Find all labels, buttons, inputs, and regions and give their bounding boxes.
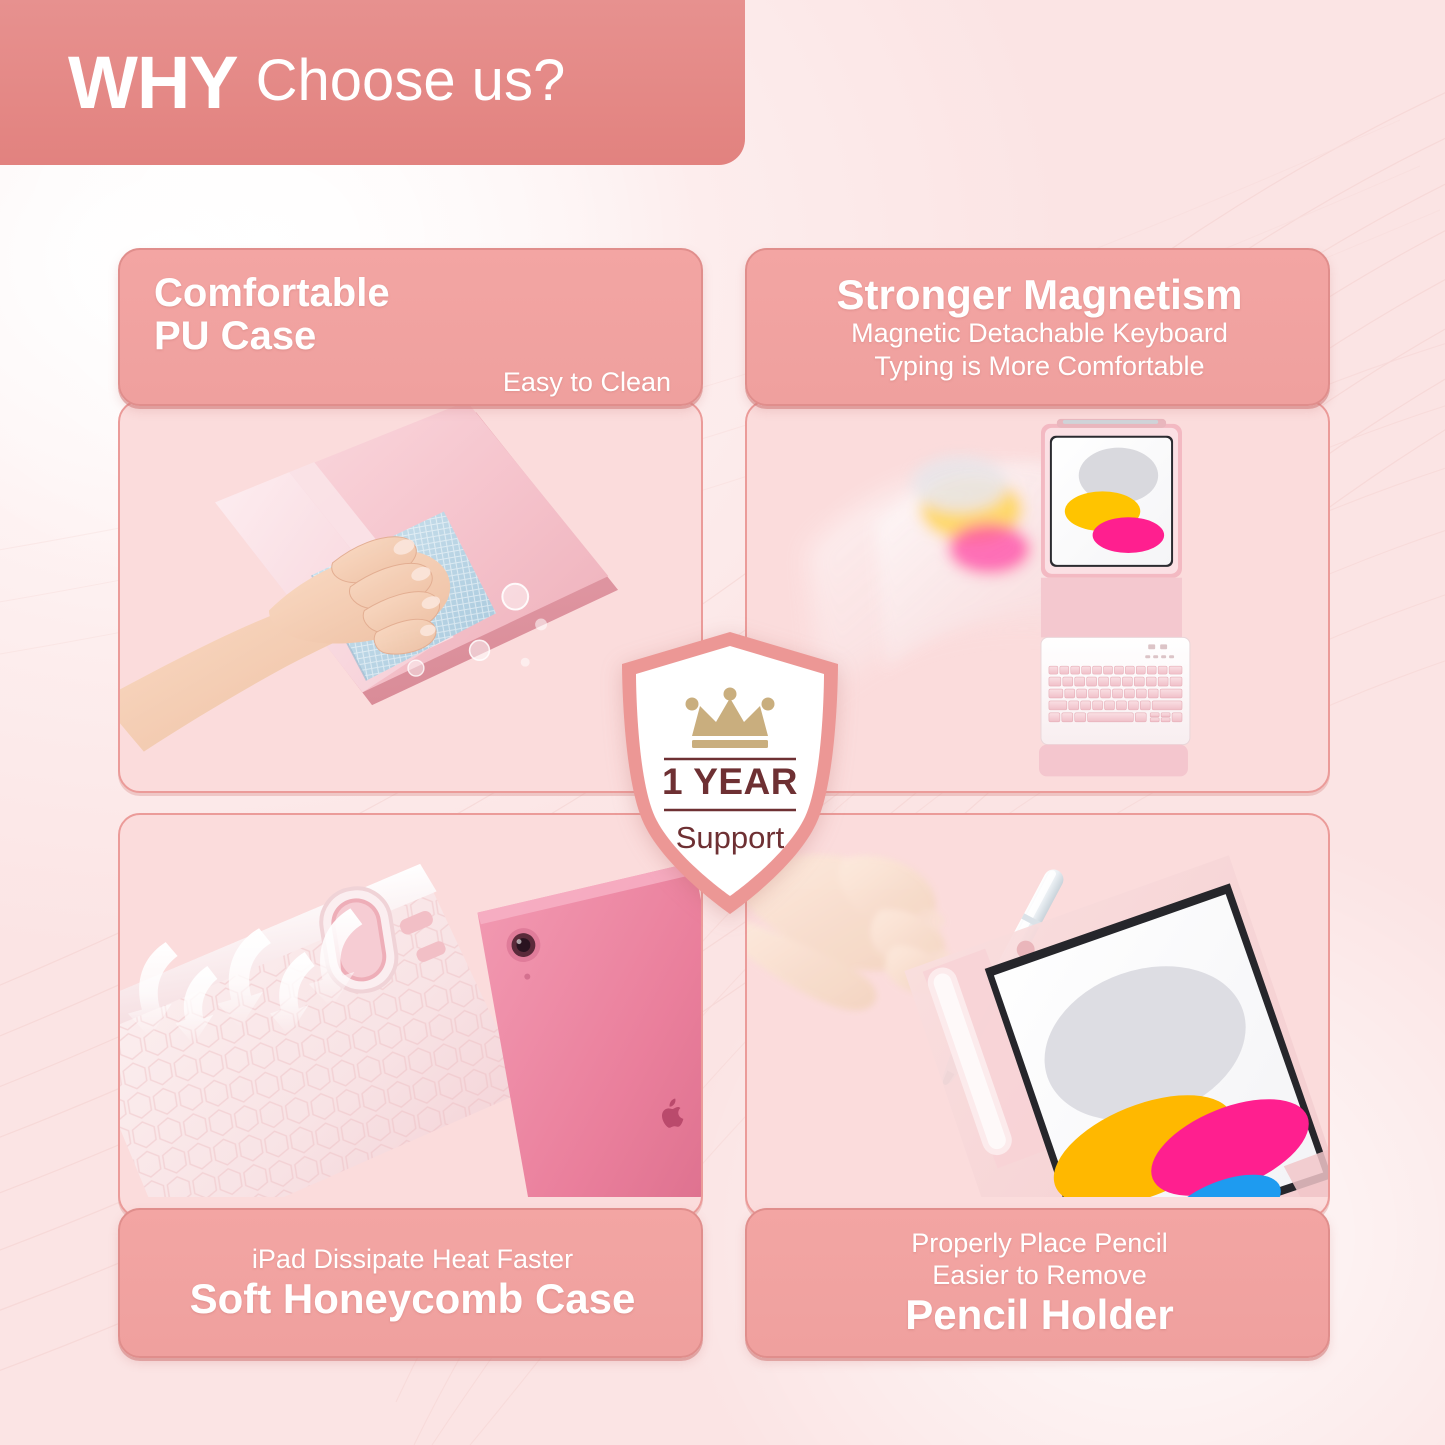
illustration-hand-wiping-case bbox=[120, 402, 701, 784]
illustration-honeycomb-heat-dissipation bbox=[120, 815, 701, 1197]
plate-subtitle-easy-to-clean: Easy to Clean bbox=[154, 366, 671, 398]
plate-title-soft-honeycomb-case: Soft Honeycomb Case bbox=[190, 1276, 636, 1321]
plate-subtitle-line2: Typing is More Comfortable bbox=[781, 350, 1298, 382]
badge-support-text: Support bbox=[616, 820, 844, 856]
plate-title-line2: PU Case bbox=[154, 315, 671, 358]
plate-title-pencil-holder: Pencil Holder bbox=[905, 1292, 1173, 1337]
plate-title-stronger-magnetism: Stronger Magnetism bbox=[781, 272, 1298, 317]
warranty-badge: 1 YEAR Support bbox=[616, 628, 844, 918]
plate-subtitle-line2: Easier to Remove bbox=[932, 1259, 1147, 1291]
plate-title-line1: Comfortable bbox=[154, 272, 671, 315]
infographic-page: WHY Choose us? Comfortable PU Case Easy … bbox=[0, 0, 1445, 1445]
header-banner: WHY Choose us? bbox=[0, 0, 745, 165]
label-plate-comfortable-pu-case: Comfortable PU Case Easy to Clean bbox=[118, 248, 703, 406]
header-title-why: WHY bbox=[68, 46, 238, 120]
plate-subtitle-dissipate-heat: iPad Dissipate Heat Faster bbox=[252, 1243, 573, 1275]
plate-subtitle-line1: Properly Place Pencil bbox=[911, 1227, 1168, 1259]
label-plate-stronger-magnetism: Stronger Magnetism Magnetic Detachable K… bbox=[745, 248, 1330, 406]
label-plate-soft-honeycomb-case: iPad Dissipate Heat Faster Soft Honeycom… bbox=[118, 1208, 703, 1358]
label-plate-pencil-holder: Properly Place Pencil Easier to Remove P… bbox=[745, 1208, 1330, 1358]
badge-duration-text: 1 YEAR bbox=[616, 761, 844, 803]
plate-subtitle-line1: Magnetic Detachable Keyboard bbox=[781, 317, 1298, 349]
header-title-choose-us: Choose us? bbox=[256, 52, 566, 113]
